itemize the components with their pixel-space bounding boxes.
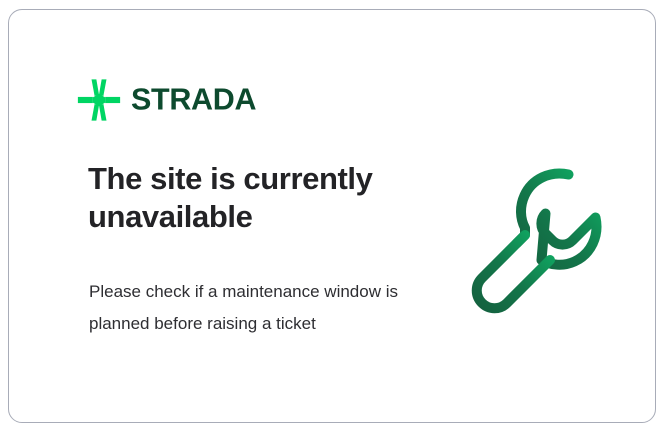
- svg-text:STRADA: STRADA: [131, 83, 256, 116]
- error-page: STRADA The site is currently unavailable…: [0, 0, 666, 436]
- brand-logo: STRADA: [77, 78, 301, 122]
- page-description: Please check if a maintenance window is …: [89, 276, 399, 340]
- strada-asterisk-icon: [77, 78, 121, 122]
- wrench-icon: [464, 162, 616, 314]
- status-card: STRADA The site is currently unavailable…: [8, 9, 656, 423]
- page-title: The site is currently unavailable: [88, 160, 428, 236]
- brand-wordmark: STRADA: [131, 83, 301, 117]
